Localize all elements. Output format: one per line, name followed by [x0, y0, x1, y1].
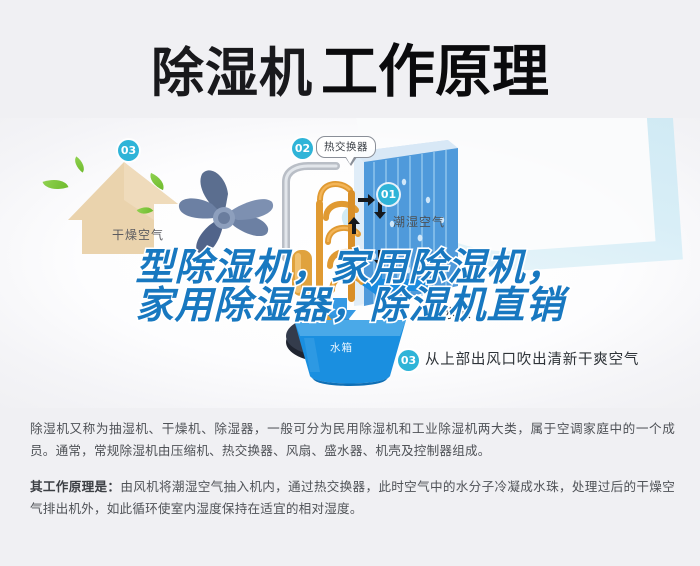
description-paragraph-2-lead: 其工作原理是：	[30, 479, 120, 494]
badge-03-outlet: 03	[398, 350, 419, 371]
page-title-part1: 除湿机	[151, 43, 313, 104]
condense-caption: 成水珠	[430, 303, 471, 322]
leaf-icon	[43, 175, 69, 194]
badge-02-heat-exchanger: 02	[292, 138, 313, 159]
air-intake-arrow-icon	[360, 268, 430, 302]
description-paragraph-1: 除湿机又称为抽湿机、干燥机、除湿器，一般可分为民用除湿机和工业除湿机两大类，属于…	[30, 418, 675, 462]
outlet-caption: 从上部出风口吹出清新干爽空气	[425, 348, 639, 369]
moist-air-label: 潮湿空气	[393, 213, 445, 230]
heat-exchanger-callout: 热交换器	[316, 136, 376, 158]
dehumidifier-diagram: 水箱 03 02 01 03 热交换器 干燥空气 潮湿空气 成水珠 从上部出风口…	[0, 118, 700, 408]
page-title: 除湿机工作原理	[0, 26, 700, 108]
description-paragraph-2-rest: 由风机将潮湿空气抽入机内，通过热交换器，此时空气中的水分子冷凝成水珠，处理过后的…	[30, 479, 675, 516]
description-block: 除湿机又称为抽湿机、干燥机、除湿器，一般可分为民用除湿机和工业除湿机两大类，属于…	[30, 418, 675, 520]
page-title-part2: 工作原理	[321, 39, 549, 105]
badge-01-moist-air: 01	[378, 184, 399, 205]
badge-03-dry-air: 03	[118, 140, 139, 161]
description-paragraph-2: 其工作原理是：由风机将潮湿空气抽入机内，通过热交换器，此时空气中的水分子冷凝成水…	[30, 476, 675, 520]
water-tank-label: 水箱	[330, 340, 353, 355]
dry-air-label: 干燥空气	[112, 226, 164, 243]
